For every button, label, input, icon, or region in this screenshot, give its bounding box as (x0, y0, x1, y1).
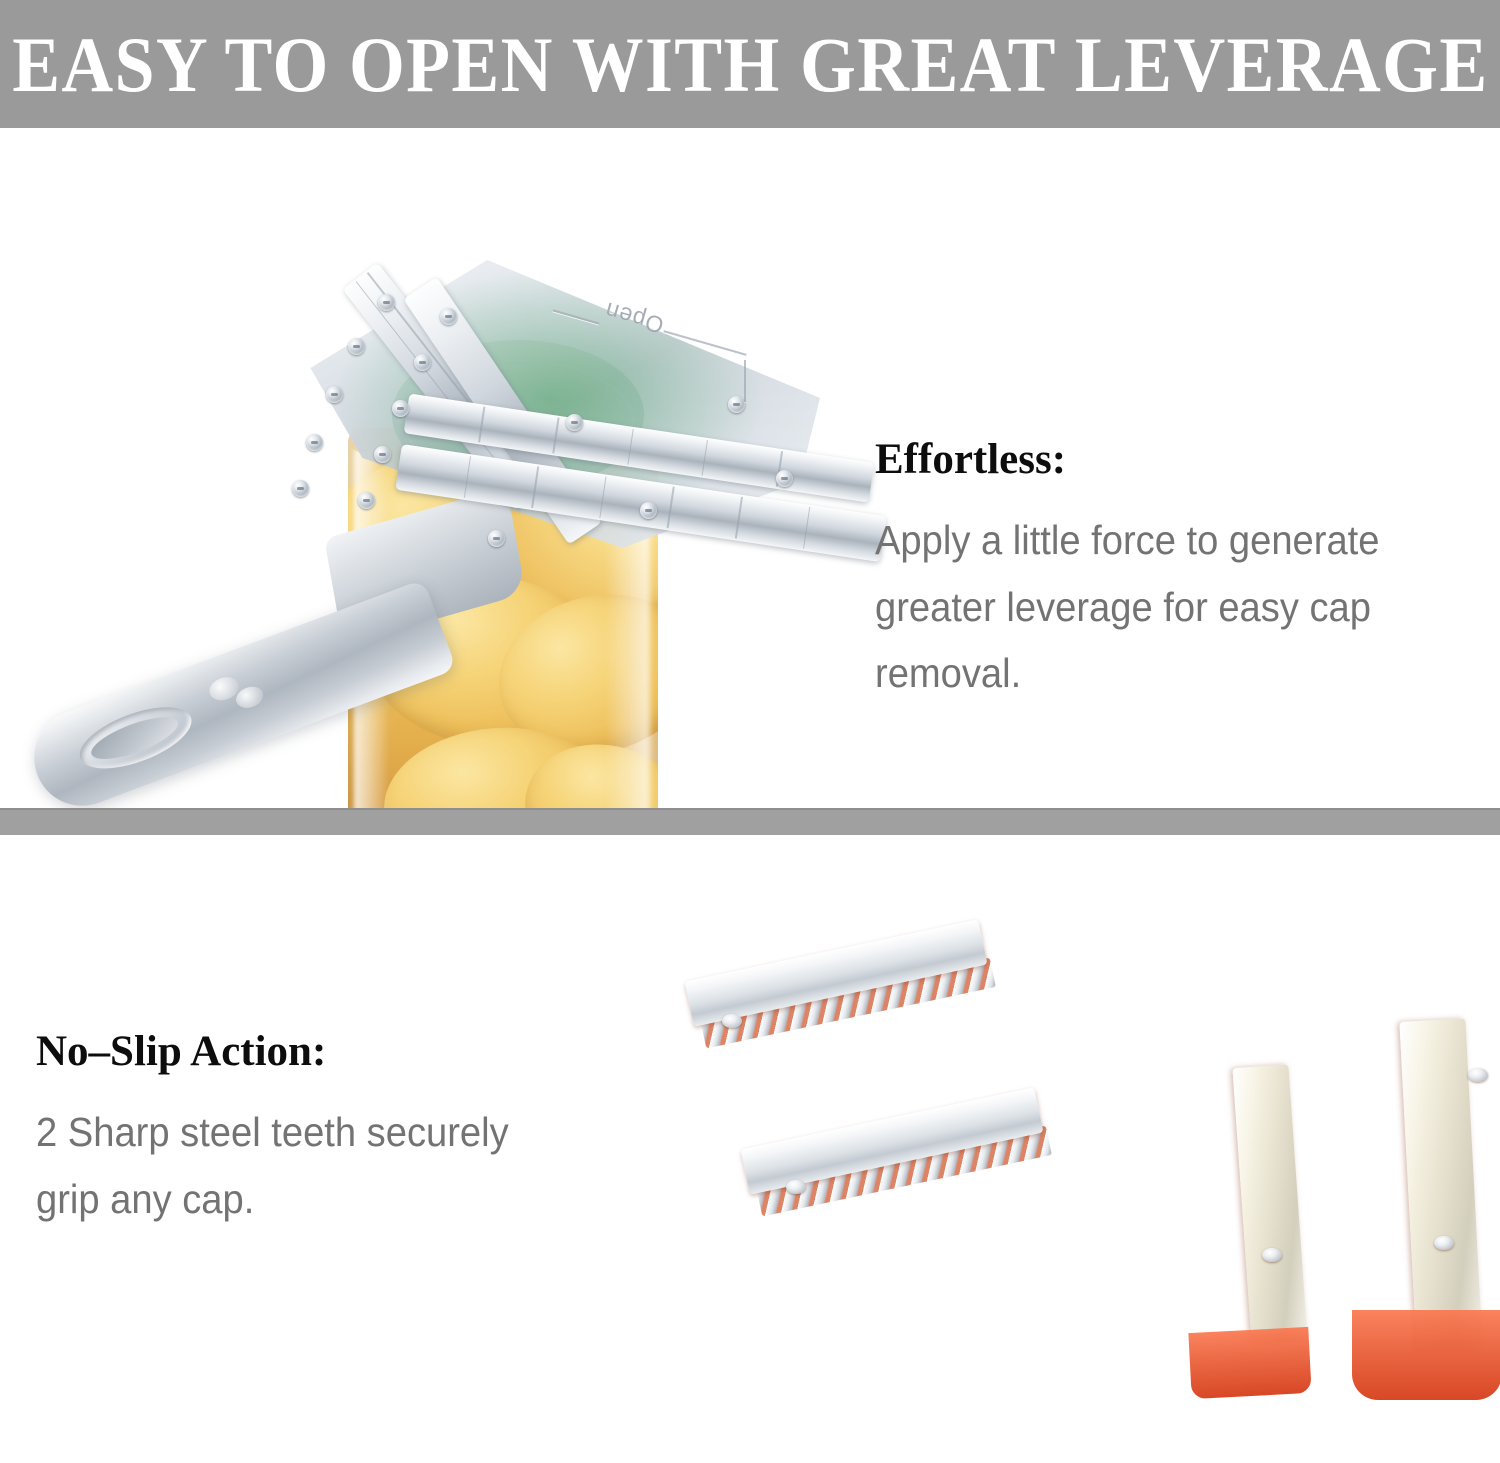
rivet (414, 354, 431, 371)
screw-dot (722, 1014, 742, 1028)
photo-jar-opener-on-peach-jar: Open (0, 128, 860, 808)
text-block-no-slip: No–Slip Action: 2 Sharp steel teeth secu… (36, 1028, 556, 1232)
rivet (566, 414, 583, 431)
rivet (776, 470, 793, 487)
rivet (488, 530, 505, 547)
steel-arm-left (1232, 1064, 1307, 1343)
handle-hanging-hole (72, 695, 199, 781)
rivet (728, 396, 745, 413)
header-banner: EASY TO OPEN WITH GREAT LEVERAGE (0, 0, 1500, 128)
screw-dot (1434, 1236, 1454, 1250)
panel-effortless: Open (0, 128, 1500, 808)
effortless-heading: Effortless: (875, 436, 1495, 483)
tool-handle (20, 579, 456, 820)
rivet (392, 400, 409, 417)
no-slip-heading: No–Slip Action: (36, 1028, 556, 1075)
rivet (440, 308, 457, 325)
screw-dot (786, 1180, 806, 1194)
steel-arm-right (1399, 1018, 1482, 1351)
screw-dot (1262, 1248, 1282, 1262)
rivet (374, 446, 391, 463)
screw-dot (1468, 1068, 1488, 1082)
rivet (348, 338, 365, 355)
photo-red-opener-gripping-yellow-cap (600, 835, 1500, 1463)
opener-foot-left (1188, 1327, 1311, 1399)
rivet (640, 502, 657, 519)
rivet (378, 294, 395, 311)
clear-jar-opener-tool: Open (0, 128, 860, 808)
rivet (358, 492, 375, 509)
emboss-line (744, 360, 746, 402)
rivet (306, 434, 323, 451)
rivet (292, 480, 309, 497)
rivet (326, 386, 343, 403)
opener-foot-right (1352, 1310, 1500, 1400)
page-title: EASY TO OPEN WITH GREAT LEVERAGE (12, 26, 1488, 104)
effortless-body: Apply a little force to generate greater… (875, 507, 1452, 706)
section-divider (0, 808, 1500, 837)
no-slip-body: 2 Sharp steel teeth securely grip any ca… (36, 1099, 520, 1232)
text-block-effortless: Effortless: Apply a little force to gene… (875, 436, 1495, 707)
